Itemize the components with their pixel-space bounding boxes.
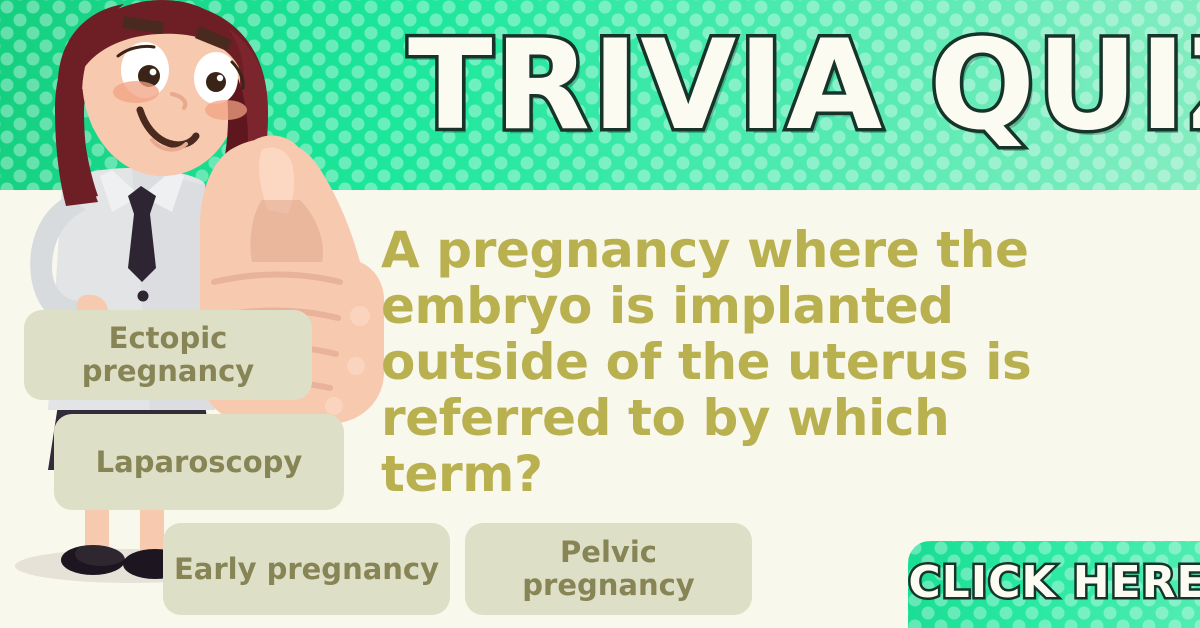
answer-option-1[interactable]: Ectopic pregnancy [24, 310, 312, 400]
trivia-quiz-card: TRIVIA QUIZ [0, 0, 1200, 628]
character-shirt-button-1 [138, 291, 149, 302]
character-tie [128, 186, 156, 214]
character-tie-body [128, 214, 156, 282]
answer-option-4[interactable]: Pelvic pregnancy [465, 523, 752, 615]
answer-option-2-label: Laparoscopy [96, 446, 303, 479]
answer-option-2[interactable]: Laparoscopy [54, 414, 344, 510]
answer-option-1-label: Ectopic pregnancy [34, 322, 302, 388]
hand-dimple-2 [347, 357, 365, 375]
character-arm-hip [30, 196, 92, 324]
answer-option-4-label: Pelvic pregnancy [475, 536, 742, 602]
answer-option-3-label: Early pregnancy [174, 553, 439, 586]
click-here-button[interactable]: CLICK HERE [908, 541, 1200, 628]
hand-thumb-shadow [250, 200, 323, 262]
hand-dimple-3 [325, 397, 343, 415]
hand-knuckle-1 [214, 275, 340, 283]
answer-option-3[interactable]: Early pregnancy [163, 523, 450, 615]
page-title: TRIVIA QUIZ [408, 6, 1198, 166]
click-here-label: CLICK HERE [908, 557, 1200, 608]
question-text: A pregnancy where the embryo is implante… [381, 222, 1111, 502]
hand-dimple-1 [350, 306, 370, 326]
